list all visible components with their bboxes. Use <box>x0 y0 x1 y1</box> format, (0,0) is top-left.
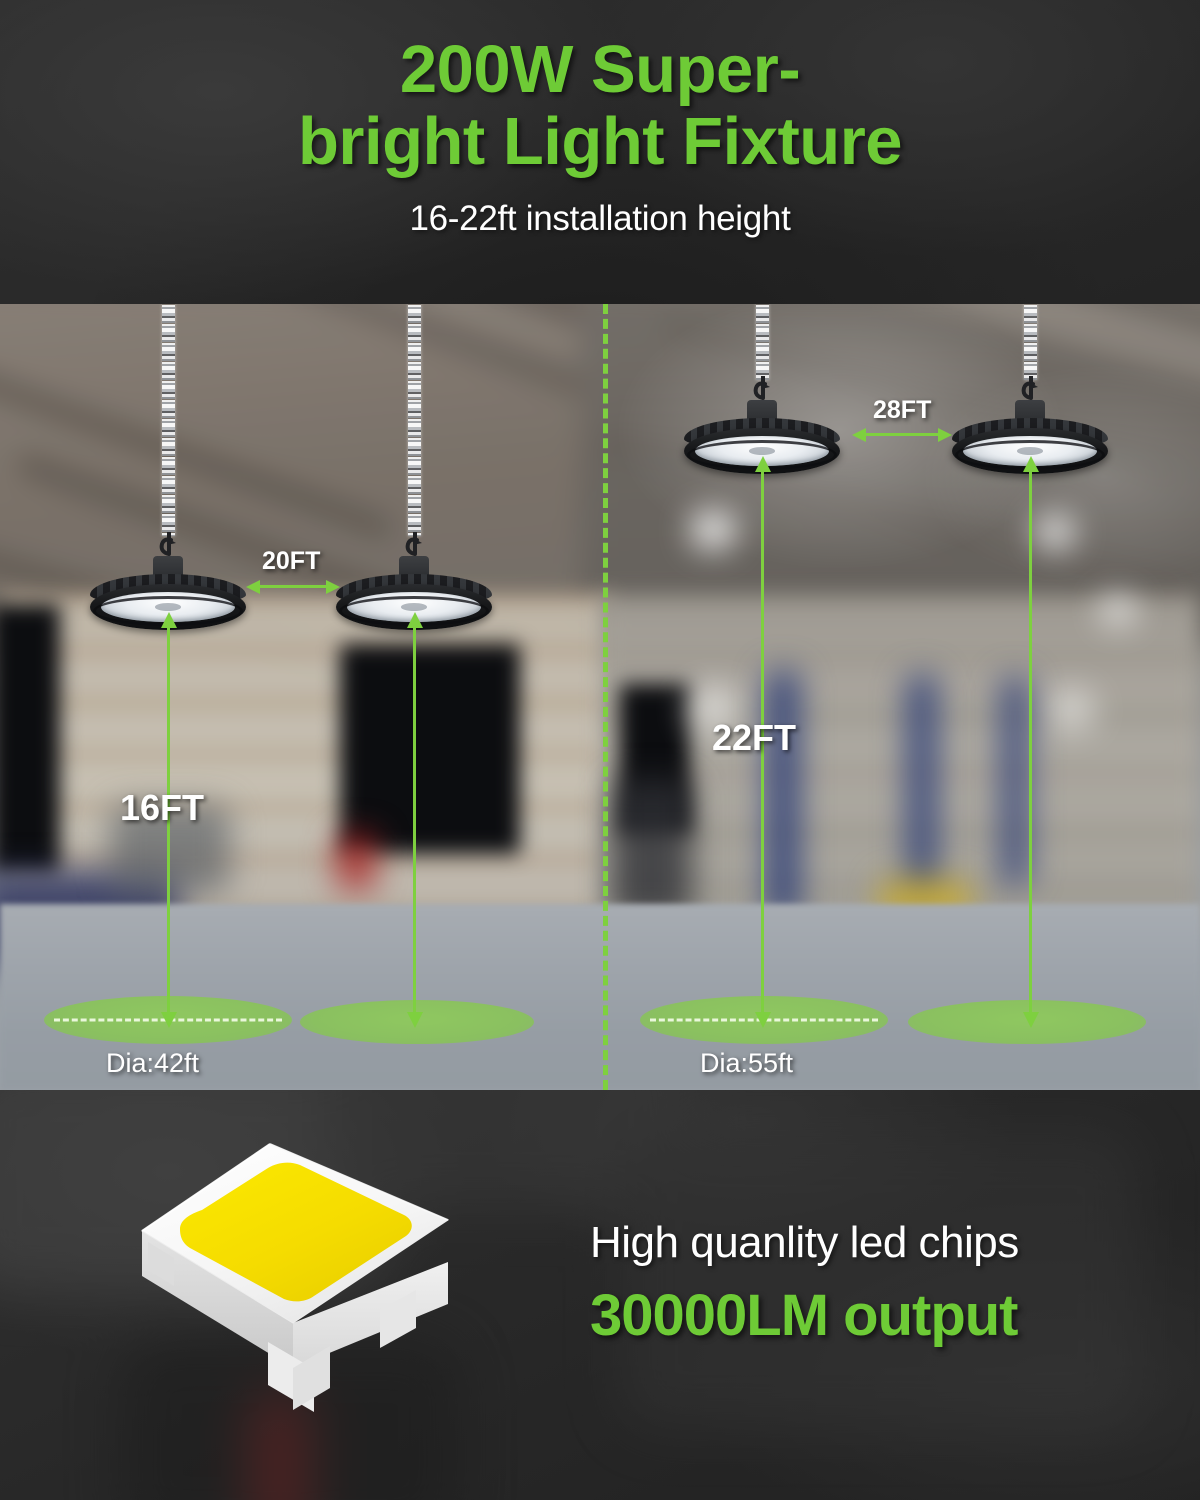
arrow-head-left-icon <box>246 580 260 594</box>
arrow-head-right-icon <box>938 428 952 442</box>
equipment-blur-dark <box>612 780 692 920</box>
spacing-label-right-group: 28FT <box>873 396 931 425</box>
hanging-chain <box>1024 304 1037 380</box>
led-chip-svg <box>118 1130 498 1460</box>
door-opening-left <box>0 604 60 874</box>
ceiling-light-spot <box>690 510 736 550</box>
page-title-line2: bright Light Fixture <box>298 104 902 179</box>
arrow-head-up-icon <box>161 612 177 628</box>
page-title-line1: 200W Super- <box>400 32 800 107</box>
equipment-blur-post <box>906 674 938 904</box>
arrow-head-down-icon <box>407 1012 423 1028</box>
equipment-blur-red <box>336 834 376 890</box>
hanging-chain <box>756 304 769 380</box>
arrow-head-up-icon <box>407 612 423 628</box>
diameter-label-left-group: Dia:42ft <box>106 1048 199 1079</box>
hanging-chain <box>162 304 175 536</box>
header-content: 200W Super- bright Light Fixture 16-22ft… <box>0 0 1200 304</box>
arrow-head-up-icon <box>755 456 771 472</box>
page-subtitle: 16-22ft installation height <box>409 199 790 239</box>
installation-diagram: 20FT Dia:42ft 16FT <box>0 304 1200 1090</box>
arrow-head-up-icon <box>1023 456 1039 472</box>
panel-divider <box>603 304 608 1090</box>
led-chip-panel: High quanlity led chips 30000LM output <box>0 1090 1200 1500</box>
door-opening-center <box>340 644 520 854</box>
spacing-arrow-right-group <box>866 433 938 436</box>
spacing-label-left-group: 20FT <box>262 547 320 576</box>
chip-headline: High quanlity led chips <box>590 1218 1019 1268</box>
height-arrow-left-b <box>413 628 416 1012</box>
spacing-arrow-left-group <box>260 585 326 588</box>
arrow-head-left-icon <box>852 428 866 442</box>
equipment-blur-post <box>766 670 800 920</box>
diameter-label-right-group: Dia:55ft <box>700 1048 793 1079</box>
arrow-head-down-icon <box>1023 1012 1039 1028</box>
equipment-blur-post <box>1000 676 1030 886</box>
chip-lumen-output: 30000LM output <box>590 1282 1019 1349</box>
ceiling-light-spot <box>1046 688 1096 732</box>
led-chip-image <box>118 1130 498 1460</box>
arrow-head-down-icon <box>755 1012 771 1028</box>
arrow-head-down-icon <box>161 1012 177 1028</box>
height-arrow-right-b <box>1029 472 1032 1012</box>
arrow-head-right-icon <box>326 580 340 594</box>
led-chip-copy: High quanlity led chips 30000LM output <box>590 1218 1019 1349</box>
ceiling-light-spot <box>1035 514 1075 550</box>
hanging-chain <box>408 304 421 536</box>
header-banner: 200W Super- bright Light Fixture 16-22ft… <box>0 0 1200 304</box>
height-label-left-group: 16FT <box>120 787 204 829</box>
height-label-right-group: 22FT <box>712 717 796 759</box>
ceiling-light-spot <box>1100 594 1136 626</box>
page-title: 200W Super- bright Light Fixture <box>190 34 1010 177</box>
